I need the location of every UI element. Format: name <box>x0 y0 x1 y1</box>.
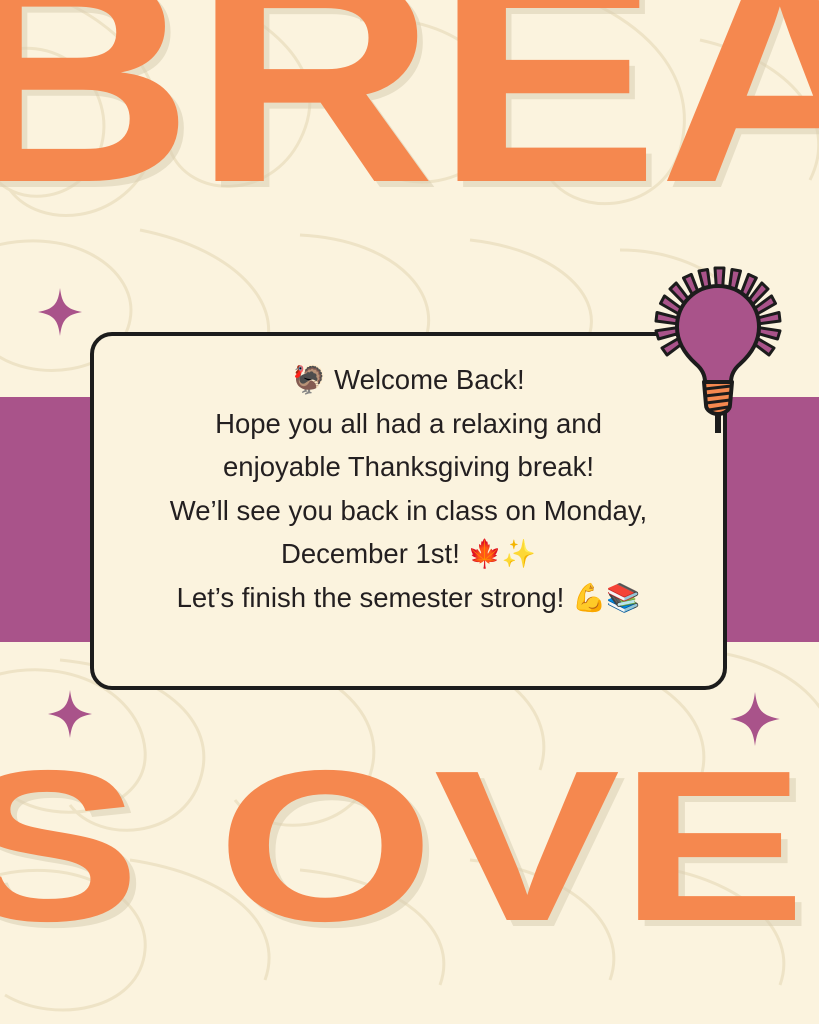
message-line-2: Hope you all had a relaxing and <box>110 402 707 446</box>
lightbulb-icon <box>652 258 784 433</box>
message-line-4: We’ll see you back in class on Monday, <box>110 489 707 533</box>
sparkle-icon <box>730 692 780 746</box>
message-line-3: enjoyable Thanksgiving break! <box>110 445 707 489</box>
message-card: 🦃 Welcome Back! Hope you all had a relax… <box>90 332 727 690</box>
message-line-5: December 1st! 🍁✨ <box>110 532 707 576</box>
sparkle-icon <box>38 288 82 336</box>
headline-bottom: IS OVER? <box>0 758 819 934</box>
sparkle-icon <box>48 690 92 738</box>
poster-canvas: BREAK IS OVER? 🦃 Welcome Back! Hope you … <box>0 0 819 1024</box>
message-line-1: 🦃 Welcome Back! <box>110 358 707 402</box>
message-line-6: Let’s finish the semester strong! 💪📚 <box>110 576 707 620</box>
message-card-text: 🦃 Welcome Back! Hope you all had a relax… <box>94 358 723 619</box>
headline-top: BREAK <box>0 0 819 200</box>
